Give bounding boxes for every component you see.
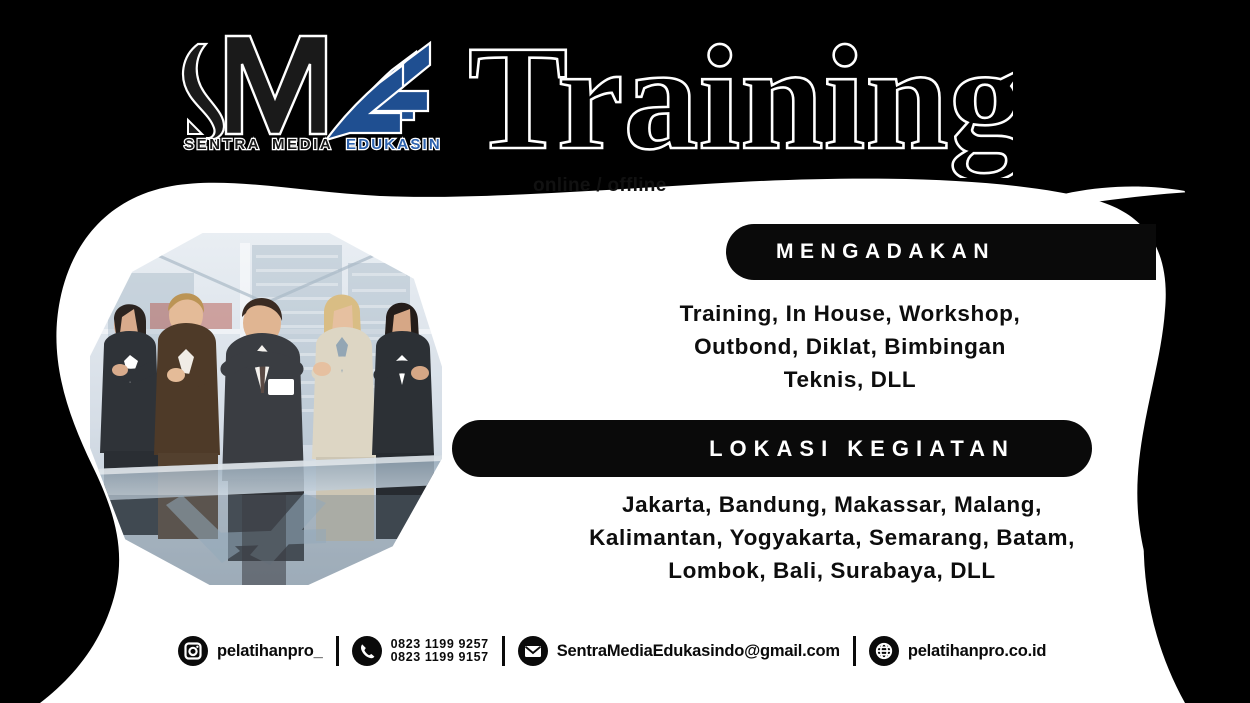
logo-wordmark-edukasindo: EDUKASINDO [346,136,440,152]
services-line-3: Teknis, DLL [600,363,1100,396]
promo-banner: SENTRA MEDIA EDUKASINDO Training online … [0,0,1250,703]
brand-logo: SENTRA MEDIA EDUKASINDO [168,22,440,152]
phone-numbers: 0823 1199 9257 0823 1199 9157 [391,638,489,664]
contact-phone[interactable]: 0823 1199 9257 0823 1199 9157 [352,629,489,673]
services-line-1: Training, In House, Workshop, [600,297,1100,330]
phone-number-2: 0823 1199 9157 [391,651,489,664]
team-meeting-photo [90,233,442,585]
badge-mengadakan: MENGADAKAN [726,224,1156,280]
separator-1 [336,636,339,666]
contact-bar: pelatihanpro_ 0823 1199 9257 0823 1199 9… [178,629,1046,673]
contact-website[interactable]: pelatihanpro.co.id [869,629,1047,673]
logo-book-glyph [326,43,430,140]
separator-2 [502,636,505,666]
contact-instagram[interactable]: pelatihanpro_ [178,629,323,673]
phone-icon [352,636,382,666]
page-title: Training [468,18,1013,178]
globe-icon [869,636,899,666]
separator-3 [853,636,856,666]
cities-line-1: Jakarta, Bandung, Makassar, Malang, [518,488,1146,521]
logo-m-glyph [226,36,326,134]
email-address: SentraMediaEdukasindo@gmail.com [557,642,840,661]
envelope-icon [518,636,548,666]
cities-line-3: Lombok, Bali, Surabaya, DLL [518,554,1146,587]
logo-wordmark-media: MEDIA [272,136,333,152]
instagram-icon [178,636,208,666]
photo-artwork [90,233,442,585]
badge-lokasi-kegiatan: LOKASI KEGIATAN [452,420,1092,477]
contact-email[interactable]: SentraMediaEdukasindo@gmail.com [518,629,840,673]
instagram-handle: pelatihanpro_ [217,642,323,661]
headline-text: Training [468,18,1013,178]
website-url: pelatihanpro.co.id [908,642,1047,661]
badge-lokasi-kegiatan-label: LOKASI KEGIATAN [709,436,1015,462]
cities-line-2: Kalimantan, Yogyakarta, Semarang, Batam, [518,521,1146,554]
badge-mengadakan-label: MENGADAKAN [776,240,995,264]
logo-tick-glyph [188,120,202,134]
headline-artwork: Training [468,18,1013,178]
services-list: Training, In House, Workshop, Outbond, D… [600,297,1100,396]
headline-subtitle: online / offline [533,175,667,197]
logo-artwork: SENTRA MEDIA EDUKASINDO [168,22,440,152]
services-line-2: Outbond, Diklat, Bimbingan [600,330,1100,363]
cities-list: Jakarta, Bandung, Makassar, Malang, Kali… [518,488,1146,587]
logo-wordmark-sentra: SENTRA [184,136,261,152]
